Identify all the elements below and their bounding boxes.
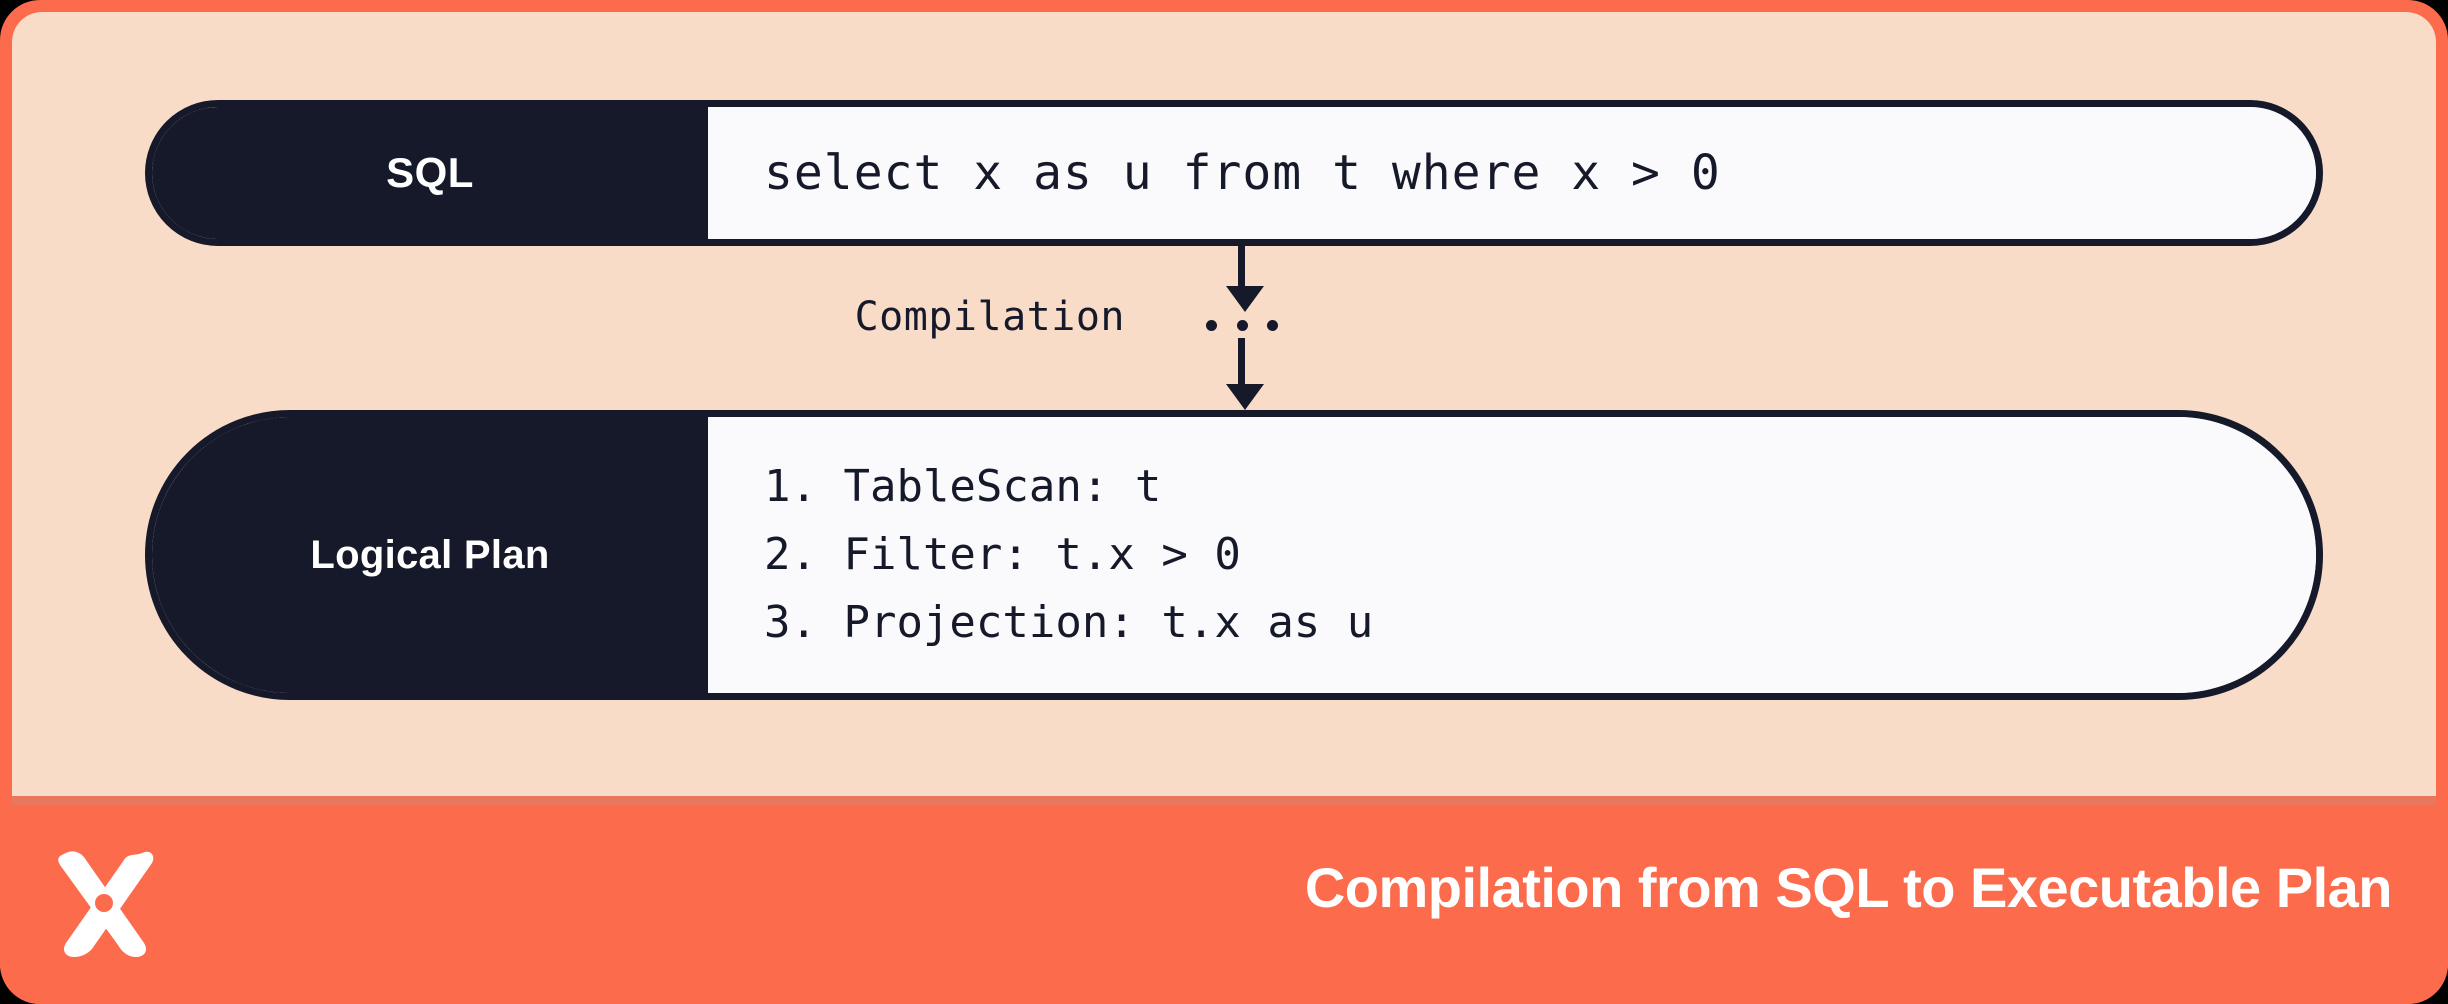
logical-plan-row-body: 1. TableScan: t 2. Filter: t.x > 0 3. Pr… [708,417,2316,693]
ellipsis-dot-3 [1267,320,1278,331]
logical-plan-row-label: Logical Plan [152,417,708,693]
stage-bottom-edge [12,796,2436,805]
ellipsis-icon [1206,318,1278,332]
arrow-head-lower-icon [1226,384,1264,410]
sql-row: SQL select x as u from t where x > 0 [145,100,2323,246]
sql-statement: select x as u from t where x > 0 [764,145,2316,201]
sql-row-body: select x as u from t where x > 0 [708,107,2316,239]
sql-row-label: SQL [152,107,708,239]
compilation-caption: Compilation [795,294,1125,340]
arrow-head-upper-icon [1226,286,1264,312]
x-mark-logo-icon [48,847,160,959]
plan-step-1: 1. TableScan: t [764,453,2316,521]
plan-step-2: 2. Filter: t.x > 0 [764,521,2316,589]
compilation-connector [1150,246,1330,410]
diagram-card: SQL select x as u from t where x > 0 Com… [0,0,2448,1004]
logical-plan-row: Logical Plan 1. TableScan: t 2. Filter: … [145,410,2323,700]
connector-line-upper [1238,246,1245,288]
ellipsis-dot-2 [1237,320,1248,331]
connector-line-lower [1238,338,1245,386]
plan-step-3: 3. Projection: t.x as u [764,589,2316,657]
banner-title: Compilation from SQL to Executable Plan [1305,855,2392,920]
ellipsis-dot-1 [1206,320,1217,331]
bottom-banner: Compilation from SQL to Executable Plan [0,805,2448,1004]
